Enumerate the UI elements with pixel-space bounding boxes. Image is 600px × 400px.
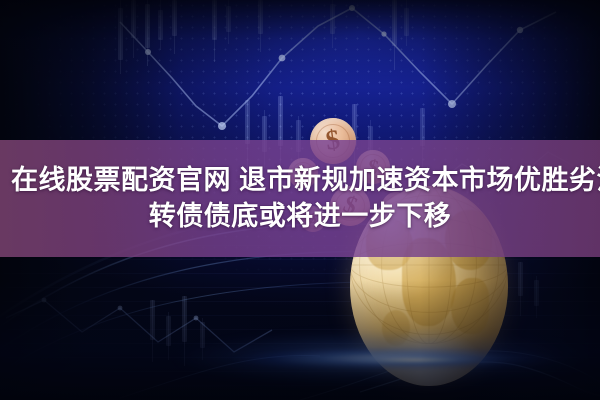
- title-band: 在线股票配资官网 退市新规加速资本市场优胜劣汰 转债债底或将进一步下移: [0, 140, 600, 257]
- headline-line-2: 转债债底或将进一步下移: [149, 199, 452, 235]
- headline-line-1: 在线股票配资官网 退市新规加速资本市场优胜劣汰: [0, 163, 600, 199]
- news-banner-image: $$$$$$ 在线股票配资官网 退: [0, 0, 600, 400]
